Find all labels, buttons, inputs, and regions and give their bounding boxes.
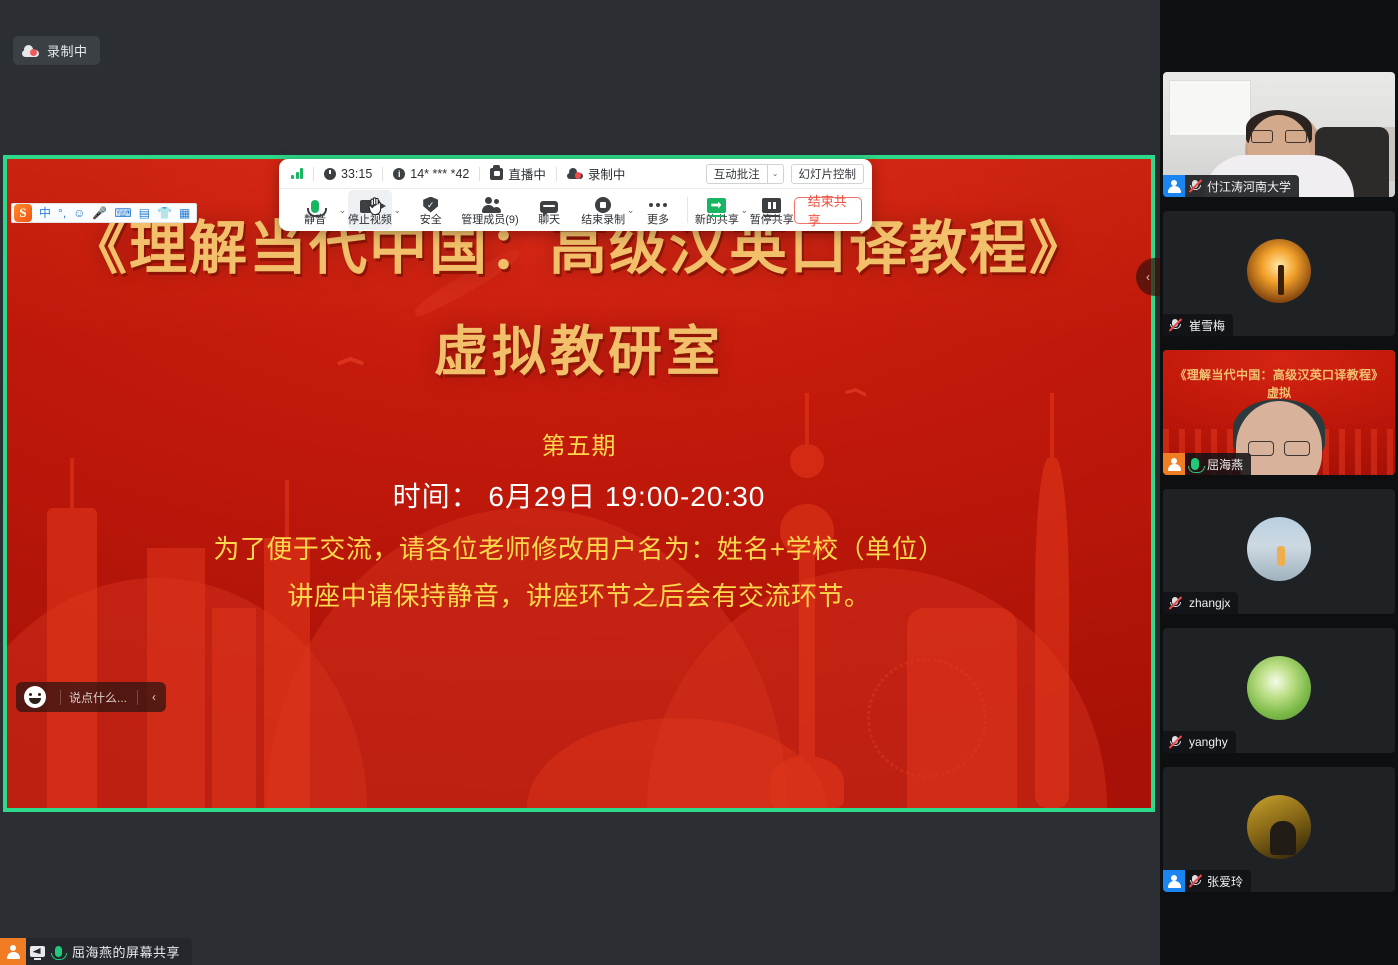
participant-badge: 张爱玲 xyxy=(1163,870,1251,892)
screen-share-chat-bubble[interactable]: 说点什么... ‹ xyxy=(16,682,166,712)
cloud-record-icon xyxy=(22,45,39,57)
chat-placeholder[interactable]: 说点什么... xyxy=(69,689,129,706)
meeting-toolbar: 33:15 i 14* *** *42 直播中 录制中 xyxy=(279,159,872,231)
live-status-label: 直播中 xyxy=(508,164,546,183)
stop-recording-button[interactable]: 结束录制 xyxy=(581,190,625,230)
shield-check-icon xyxy=(423,195,438,213)
participant-name: zhangjx xyxy=(1187,596,1238,610)
chevron-down-icon: ⌄ xyxy=(772,169,779,178)
signal-bars-icon xyxy=(291,168,303,179)
mic-muted-icon xyxy=(1163,735,1187,749)
cloud-record-icon xyxy=(567,168,583,179)
pause-share-icon xyxy=(762,195,781,213)
skin-icon[interactable]: 👕 xyxy=(157,207,172,219)
ime-toolbar[interactable]: S 中 °, ☺ 🎤 ⌨ ▤ 👕 ▦ xyxy=(11,203,197,223)
divider xyxy=(687,197,688,223)
avatar xyxy=(1247,239,1311,303)
slide-note-username: 为了便于交流，请各位老师修改用户名为：姓名+学校（单位） xyxy=(7,529,1151,566)
participant-name: 崔雪梅 xyxy=(1187,317,1233,334)
recording-indicator[interactable]: 录制中 xyxy=(13,36,100,65)
participant-tile-3[interactable]: zhangjx xyxy=(1163,489,1395,614)
apps-icon[interactable]: ▦ xyxy=(179,207,190,219)
shared-screen-stage: 录制中 xyxy=(0,0,1160,965)
share-frame: 《理解当代中国：高级汉英口译教程》 虚拟教研室 第五期 时间： 6月29日 19… xyxy=(3,155,1155,812)
recording-label: 录制中 xyxy=(47,41,88,60)
security-button[interactable]: 安全 xyxy=(409,190,453,230)
divider xyxy=(313,167,314,181)
meeting-timer: 33:15 xyxy=(341,167,372,181)
person-icon xyxy=(1163,870,1185,892)
divider xyxy=(556,167,557,181)
mic-muted-icon xyxy=(1163,596,1187,610)
sogou-logo-icon: S xyxy=(14,204,32,222)
share-banner-label: 屈海燕的屏幕共享 xyxy=(68,942,192,961)
participants-button[interactable]: 管理成员(9) xyxy=(463,190,517,230)
slide-title-secondary: 虚拟教研室 xyxy=(7,307,1151,386)
pause-share-button[interactable]: 暂停共享 xyxy=(750,190,794,230)
info-icon[interactable]: i xyxy=(393,168,405,180)
participant-badge: yanghy xyxy=(1163,731,1236,753)
more-button[interactable]: 更多 xyxy=(636,190,680,230)
end-share-button[interactable]: 结束共享 xyxy=(794,197,862,224)
frame-corner xyxy=(3,612,7,812)
chat-button[interactable]: 聊天 xyxy=(527,190,571,230)
participant-rail[interactable]: 付江涛河南大学 崔雪梅 《理解当代中国：高级汉英口译教程》 虚拟 屈海燕 xyxy=(1160,0,1398,965)
ime-punctuation[interactable]: °, xyxy=(58,207,66,219)
frame-corner xyxy=(3,808,103,812)
chevron-down-icon: ⌄ xyxy=(339,205,347,216)
person-icon xyxy=(1163,453,1185,475)
chevron-down-icon: ⌄ xyxy=(741,205,749,216)
screen-share-icon xyxy=(26,946,48,957)
frame-corner xyxy=(1151,602,1155,812)
frame-corner xyxy=(1055,808,1155,812)
frame-corner xyxy=(3,155,103,159)
video-dropdown-button[interactable]: ⌄ xyxy=(392,190,403,230)
avatar xyxy=(1247,795,1311,859)
security-label: 安全 xyxy=(420,215,442,226)
mic-on-icon xyxy=(1185,458,1205,470)
participant-name: yanghy xyxy=(1187,735,1236,749)
mute-dropdown-button[interactable]: ⌄ xyxy=(337,190,348,230)
frame-corner xyxy=(1055,155,1155,159)
stop-circle-icon xyxy=(595,195,611,213)
participant-badge: 崔雪梅 xyxy=(1163,314,1233,336)
divider xyxy=(382,167,383,181)
meeting-status-bar: 33:15 i 14* *** *42 直播中 录制中 xyxy=(279,159,872,189)
recording-dropdown-button[interactable]: ⌄ xyxy=(625,190,636,230)
live-camera-icon xyxy=(490,168,503,180)
participant-badge: 付江涛河南大学 xyxy=(1163,175,1299,197)
avatar xyxy=(1247,656,1311,720)
meeting-id: 14* *** *42 xyxy=(410,167,469,181)
chevron-down-icon: ⌄ xyxy=(627,205,635,216)
divider xyxy=(60,690,61,705)
stop-video-label: 停止视频 xyxy=(348,215,392,226)
thumbnail-slide-title1: 《理解当代中国：高级汉英口译教程》 xyxy=(1163,366,1395,383)
participants-label: 管理成员(9) xyxy=(461,215,518,226)
chevron-down-icon: ⌄ xyxy=(394,205,402,216)
more-label: 更多 xyxy=(647,215,669,226)
annotate-dropdown-button[interactable]: ⌄ xyxy=(767,164,784,184)
annotation-control[interactable]: 互动批注 ⌄ xyxy=(706,164,784,184)
share-dropdown-button[interactable]: ⌄ xyxy=(739,190,750,230)
avatar xyxy=(1247,517,1311,581)
slide-note-mute: 讲座中请保持静音，讲座环节之后会有交流环节。 xyxy=(7,576,1151,613)
mouse-cursor-hand-icon xyxy=(368,196,384,216)
participant-name: 张爱玲 xyxy=(1205,873,1251,890)
screen-share-icon xyxy=(707,195,726,213)
slide-issue-number: 第五期 xyxy=(7,426,1151,461)
ellipsis-icon xyxy=(649,195,667,213)
zoom-meeting-window: 录制中 xyxy=(0,0,1398,965)
chevron-left-icon: ‹ xyxy=(1146,270,1150,284)
toolbox-icon[interactable]: ▤ xyxy=(139,207,150,219)
microphone-on-icon xyxy=(48,946,68,957)
participant-tile-2[interactable]: 《理解当代中国：高级汉英口译教程》 虚拟 屈海燕 xyxy=(1163,350,1395,475)
slide-time: 时间： 6月29日 19:00-20:30 xyxy=(7,475,1151,515)
skyline-building xyxy=(212,608,256,808)
participant-badge: 屈海燕 xyxy=(1163,453,1251,475)
mic-muted-icon xyxy=(1163,318,1187,332)
participant-tile-5[interactable]: 张爱玲 xyxy=(1163,767,1395,892)
participant-name: 屈海燕 xyxy=(1205,456,1251,473)
chevron-left-icon[interactable]: ‹ xyxy=(152,690,156,704)
stop-recording-label: 结束录制 xyxy=(581,215,625,226)
participant-name: 付江涛河南大学 xyxy=(1205,178,1299,195)
microphone-icon xyxy=(311,195,319,213)
smiley-icon[interactable] xyxy=(24,686,46,708)
annotate-button[interactable]: 互动批注 xyxy=(706,164,767,184)
divider xyxy=(479,167,480,181)
mic-muted-icon xyxy=(1185,874,1205,888)
ferris-wheel-icon xyxy=(867,658,987,778)
divider xyxy=(137,690,138,705)
mic-muted-icon xyxy=(1185,179,1205,193)
new-share-button[interactable]: 新的共享 xyxy=(695,190,739,230)
participant-tile-4[interactable]: yanghy xyxy=(1163,628,1395,753)
participant-tile-1[interactable]: 崔雪梅 xyxy=(1163,211,1395,336)
mic-icon[interactable]: 🎤 xyxy=(92,207,107,219)
slide-control-button[interactable]: 幻灯片控制 xyxy=(791,164,865,184)
mute-button[interactable]: 静音 xyxy=(293,190,337,230)
participant-badge: zhangjx xyxy=(1163,592,1238,614)
ime-mode-chinese[interactable]: 中 xyxy=(39,207,51,219)
keyboard-icon[interactable]: ⌨ xyxy=(114,207,131,219)
clock-icon xyxy=(324,168,336,180)
chat-bubble-icon xyxy=(540,195,558,213)
people-icon xyxy=(479,195,501,213)
person-icon xyxy=(1163,175,1185,197)
chat-label: 聊天 xyxy=(538,215,560,226)
participant-tile-0[interactable]: 付江涛河南大学 xyxy=(1163,72,1395,197)
smiley-icon[interactable]: ☺ xyxy=(73,207,85,219)
screen-share-status-banner: 屈海燕的屏幕共享 xyxy=(0,938,192,965)
person-icon xyxy=(0,938,26,965)
recording-status-label: 录制中 xyxy=(588,164,626,183)
